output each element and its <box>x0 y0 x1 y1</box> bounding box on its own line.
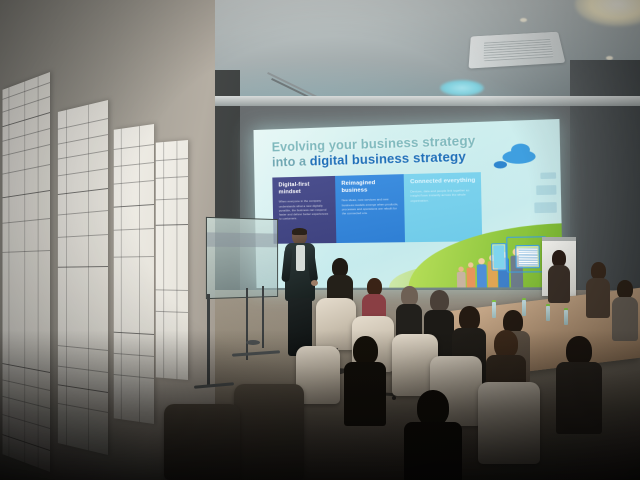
person-head <box>430 290 449 312</box>
conference-room-scene: Evolving your business strategy into a d… <box>0 0 640 480</box>
column-body: When everyone in the company understands… <box>279 199 331 221</box>
column-heading: Reimagined business <box>341 179 398 195</box>
slide-title-line2-prefix: into a <box>272 155 310 170</box>
illustration-person <box>457 267 466 288</box>
slide-title-line2-bold: digital business strategy <box>310 150 466 169</box>
glass-display-panel <box>206 217 278 299</box>
illustration-person <box>476 258 486 287</box>
ceiling-disc-light <box>440 80 484 96</box>
water-bottle <box>546 306 550 321</box>
ceiling-spot-light <box>520 18 527 22</box>
panel-band <box>207 232 277 247</box>
bottle-cap <box>564 308 568 310</box>
slide-column-reimagined-business: Reimagined business New ideas, new servi… <box>335 174 405 243</box>
presenter-hand <box>311 280 318 286</box>
faint-graphic <box>540 172 556 179</box>
column-body: New ideas, new services and new business… <box>342 197 400 215</box>
bottle-cap <box>522 298 526 300</box>
person-body <box>548 265 570 303</box>
column-heading: Digital-first mindset <box>278 181 330 197</box>
ceiling-soffit <box>210 96 640 106</box>
hvac-vent-louvres <box>484 38 554 61</box>
faint-graphic <box>534 202 557 213</box>
person-head <box>401 286 418 306</box>
smartphone-icon <box>491 243 507 270</box>
person-body <box>476 264 486 287</box>
column-body: Devices, data and people link together s… <box>410 188 476 203</box>
presenter-hair <box>292 228 307 235</box>
person-body <box>586 278 610 318</box>
bottle-cap <box>492 300 496 302</box>
presenter-shirt <box>296 245 305 271</box>
tablet-icon <box>506 236 547 272</box>
person-body <box>457 272 466 288</box>
foreground-shadow <box>0 330 640 480</box>
person-body <box>466 268 475 288</box>
audience-person <box>586 262 610 316</box>
water-bottle <box>564 310 568 325</box>
faint-graphic <box>536 185 556 195</box>
slide-column-connected-everything: Connected everything Devices, data and p… <box>404 172 483 242</box>
bottle-cap <box>546 304 550 306</box>
audience-person <box>548 250 570 302</box>
smartphone-screen <box>493 245 504 268</box>
flipchart-clamp <box>542 237 576 241</box>
illustration-person <box>466 262 475 287</box>
hvac-vent <box>468 32 565 69</box>
column-heading: Connected everything <box>410 178 476 187</box>
